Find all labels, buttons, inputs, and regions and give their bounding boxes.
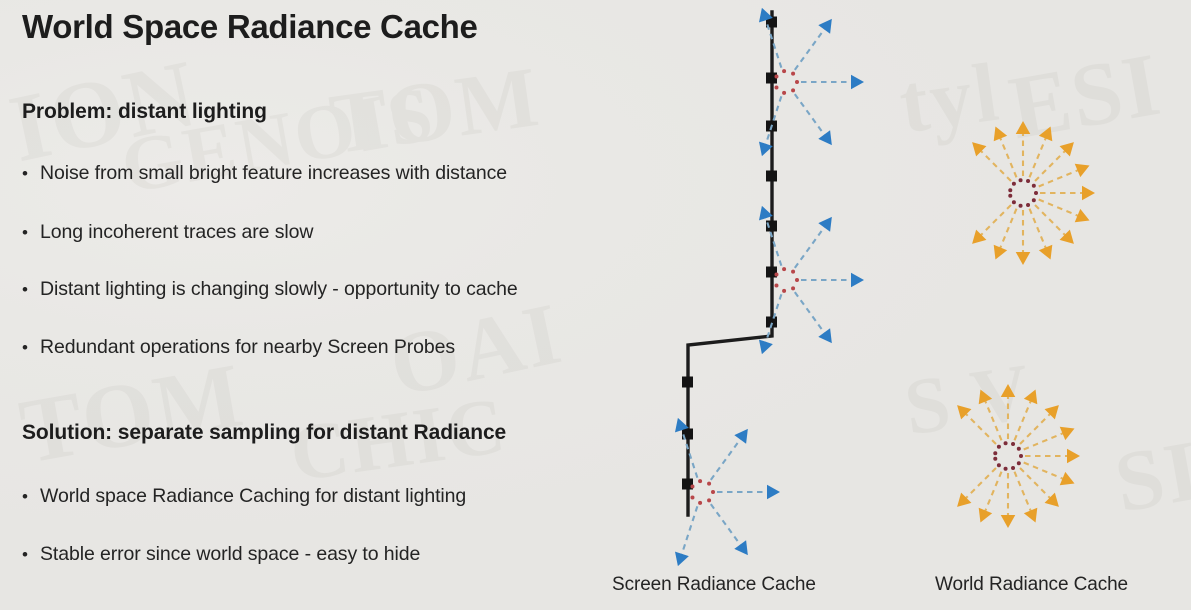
screen-probe-dot xyxy=(795,278,799,282)
page-title: World Space Radiance Cache xyxy=(22,8,478,46)
list-item: • Noise from small bright feature increa… xyxy=(22,162,507,185)
screen-probe-dot xyxy=(774,273,778,277)
bullet-marker-icon: • xyxy=(22,224,40,241)
list-item-label: Noise from small bright feature increase… xyxy=(40,162,507,185)
world-probe-arrowhead xyxy=(972,230,986,244)
world-probe-arrowhead xyxy=(1001,515,1016,528)
world-probe-dot xyxy=(997,445,1001,449)
problem-heading: Problem: distant lighting xyxy=(22,100,267,124)
screen-probe-arrowhead xyxy=(734,429,748,444)
caption-screen-radiance-cache: Screen Radiance Cache xyxy=(612,574,816,596)
screen-probe-dot xyxy=(690,496,694,500)
world-probe-dot xyxy=(1019,204,1023,208)
screen-probe-dot xyxy=(782,69,786,73)
screen-probe-group xyxy=(675,418,780,566)
screen-probe-dot xyxy=(782,267,786,271)
world-probe-arrowhead xyxy=(957,405,971,419)
bullet-marker-icon: • xyxy=(22,281,40,298)
screen-probe-dot xyxy=(774,284,778,288)
list-item: • World space Radiance Caching for dista… xyxy=(22,485,466,508)
world-probe-arrowhead xyxy=(1060,230,1074,244)
screen-probe-dot xyxy=(791,88,795,92)
screen-radiance-probes xyxy=(675,8,864,566)
list-item: • Distant lighting is changing slowly - … xyxy=(22,278,518,301)
screen-probe-arrowhead xyxy=(851,75,864,90)
world-probe-dot xyxy=(1017,461,1021,465)
world-probe-dot xyxy=(1034,191,1038,195)
solution-heading: Solution: separate sampling for distant … xyxy=(22,421,506,445)
slide-root: IONGENOISTOMtylESITOMCHICOAIS VSIG World… xyxy=(0,0,1191,610)
screen-probe-arrowhead xyxy=(767,485,780,500)
text-column: World Space Radiance Cache Problem: dist… xyxy=(0,0,680,610)
screen-probe-ray xyxy=(795,94,825,135)
screen-probe-ray xyxy=(795,29,825,70)
screen-probe-arrowhead xyxy=(734,540,748,555)
screen-probe-dot xyxy=(698,479,702,483)
screen-probe-dot xyxy=(707,498,711,502)
world-probe-group xyxy=(957,384,1080,528)
screen-probe-dot xyxy=(707,482,711,486)
list-item-label: Redundant operations for nearby Screen P… xyxy=(40,336,455,359)
world-probe-arrowhead xyxy=(957,493,971,507)
world-probe-dot xyxy=(1017,447,1021,451)
list-item-label: Long incoherent traces are slow xyxy=(40,221,313,244)
screen-probe-dot xyxy=(791,270,795,274)
world-probe-dot xyxy=(1012,200,1016,204)
screen-probe-ray xyxy=(795,227,825,268)
world-probe-dot xyxy=(993,457,997,461)
wall-probe-markers xyxy=(682,17,777,490)
screen-probe-dot xyxy=(711,490,715,494)
list-item-label: World space Radiance Caching for distant… xyxy=(40,485,466,508)
screen-probe-dot xyxy=(791,72,795,76)
world-radiance-probes xyxy=(957,121,1095,528)
screen-probe-ray xyxy=(795,292,825,333)
world-probe-dot xyxy=(1012,182,1016,186)
world-probe-dot xyxy=(1011,442,1015,446)
screen-probe-bottom xyxy=(675,418,780,566)
world-probe-arrowhead xyxy=(1045,493,1059,507)
world-probe-arrowhead xyxy=(1045,405,1059,419)
world-probe-group xyxy=(972,121,1095,265)
bullet-marker-icon: • xyxy=(22,339,40,356)
wall-line xyxy=(688,12,772,515)
screen-probe-arrowhead xyxy=(759,340,773,355)
diagram-canvas xyxy=(600,0,1191,610)
wall-probe-marker xyxy=(682,377,693,388)
world-probe-dot xyxy=(1026,179,1030,183)
world-probe-dot xyxy=(1019,454,1023,458)
world-probe-arrowhead xyxy=(972,142,986,156)
screen-probe-dot xyxy=(774,75,778,79)
world-probe-arrowhead xyxy=(1016,252,1031,265)
world-probe-arrowhead xyxy=(1060,142,1074,156)
world-probe-arrowhead xyxy=(1067,449,1080,464)
screen-probe-arrowhead xyxy=(675,552,689,567)
world-probe-arrowhead xyxy=(1082,186,1095,201)
list-item-label: Stable error since world space - easy to… xyxy=(40,543,420,566)
screen-probe-dot xyxy=(774,86,778,90)
world-probe-dot xyxy=(993,451,997,455)
list-item: • Long incoherent traces are slow xyxy=(22,221,313,244)
world-probe-dot xyxy=(1004,467,1008,471)
world-probe-dot xyxy=(1026,203,1030,207)
screen-probe-dot xyxy=(690,485,694,489)
screen-probe-ray xyxy=(711,439,741,480)
screen-probe-ray xyxy=(711,504,741,545)
wall-geometry xyxy=(688,12,772,515)
screen-probe-arrowhead xyxy=(818,328,832,343)
screen-probe-dot xyxy=(791,286,795,290)
screen-probe-dot xyxy=(795,80,799,84)
wall-probe-marker xyxy=(766,171,777,182)
world-probe-dot xyxy=(1008,194,1012,198)
world-probe-top xyxy=(972,121,1095,265)
world-probe-arrowhead xyxy=(1016,121,1031,134)
caption-world-radiance-cache: World Radiance Cache xyxy=(935,574,1128,596)
screen-probe-arrowhead xyxy=(818,217,832,232)
list-item: • Stable error since world space - easy … xyxy=(22,543,420,566)
bullet-marker-icon: • xyxy=(22,488,40,505)
screen-probe-arrowhead xyxy=(818,19,832,34)
screen-probe-dot xyxy=(782,91,786,95)
world-probe-dot xyxy=(1004,441,1008,445)
screen-probe-arrowhead xyxy=(818,130,832,145)
list-item: • Redundant operations for nearby Screen… xyxy=(22,336,455,359)
world-probe-dot xyxy=(1011,466,1015,470)
world-probe-bottom xyxy=(957,384,1080,528)
bullet-marker-icon: • xyxy=(22,165,40,182)
world-probe-dot xyxy=(997,463,1001,467)
screen-probe-dot xyxy=(698,501,702,505)
list-item-label: Distant lighting is changing slowly - op… xyxy=(40,278,518,301)
screen-probe-arrowhead xyxy=(851,273,864,288)
radiance-cache-diagram xyxy=(600,0,1191,610)
world-probe-dot xyxy=(1008,188,1012,192)
world-probe-dot xyxy=(1032,184,1036,188)
bullet-marker-icon: • xyxy=(22,546,40,563)
world-probe-dot xyxy=(1032,198,1036,202)
screen-probe-dot xyxy=(782,289,786,293)
world-probe-dot xyxy=(1019,178,1023,182)
world-probe-arrowhead xyxy=(1001,384,1016,397)
